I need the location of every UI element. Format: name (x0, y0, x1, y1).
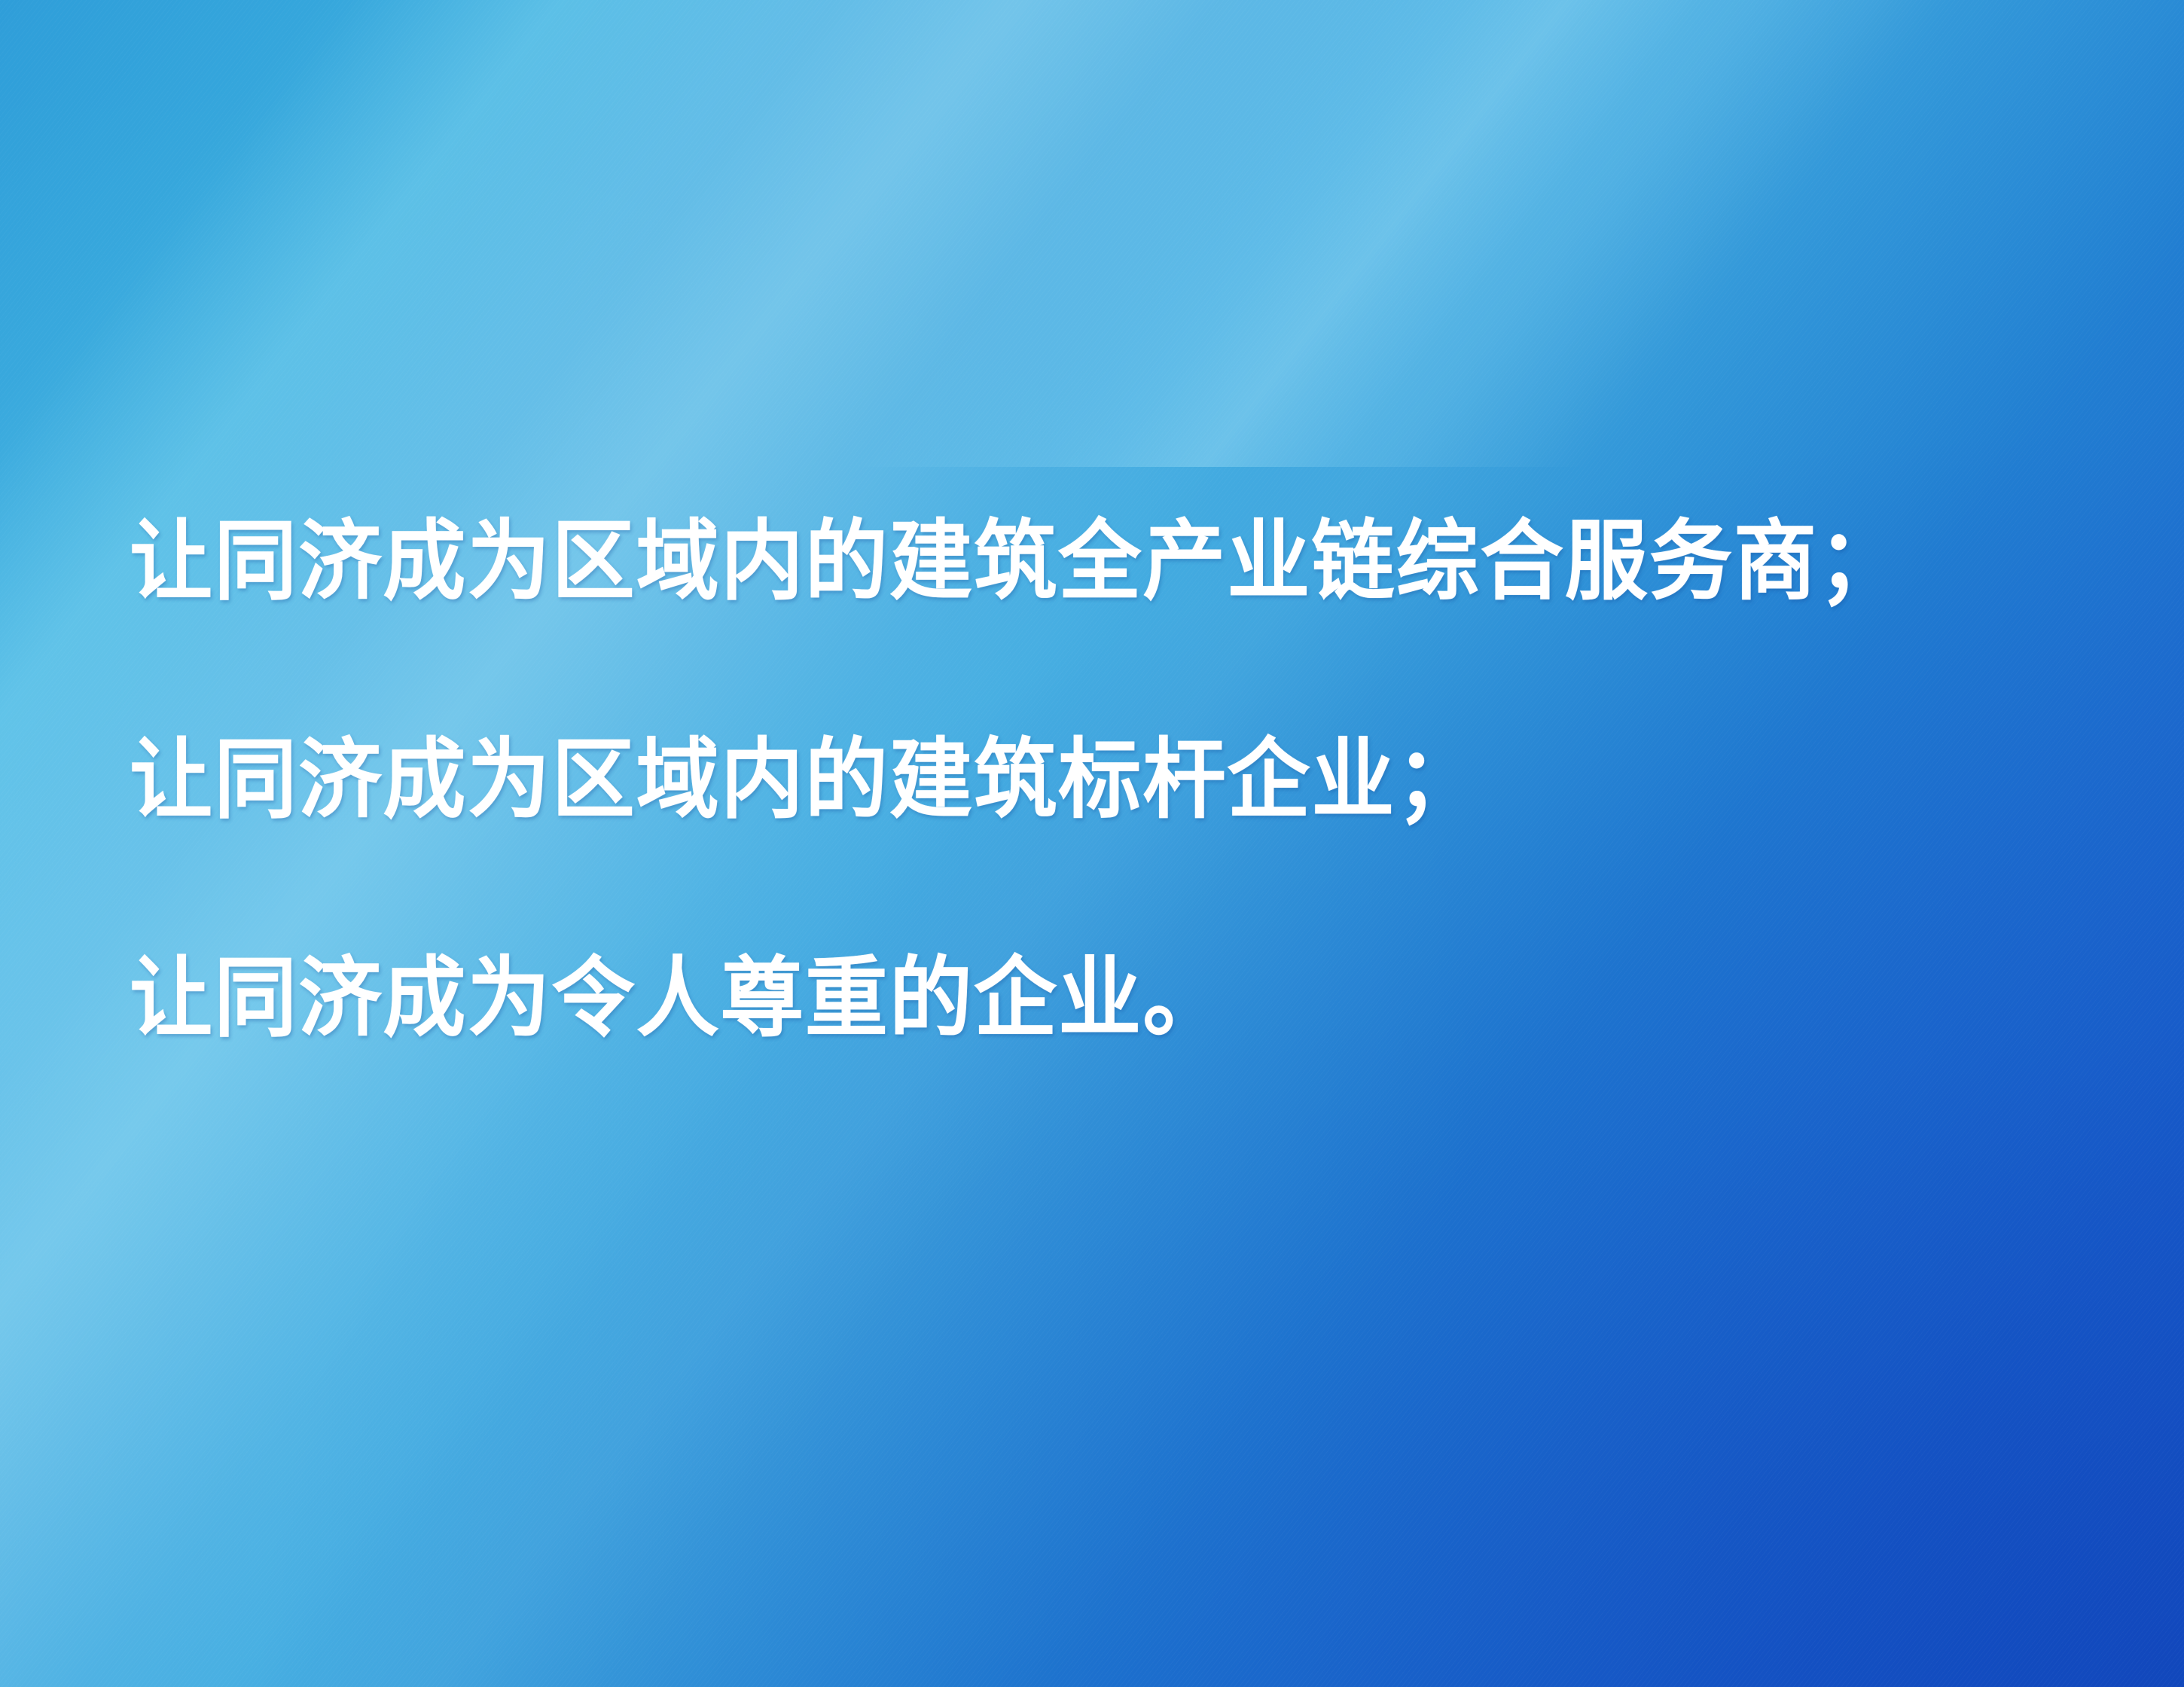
slogan-line-2: 让同济成为区域内的建筑标杆企业； (130, 670, 1990, 889)
slogan-line-1: 让同济成为区域内的建筑全产业链综合服务商； (130, 452, 1990, 670)
slogan-text-block: 让同济成为区域内的建筑全产业链综合服务商； 让同济成为区域内的建筑标杆企业； 让… (130, 452, 2088, 1107)
slogan-line-3: 让同济成为令人尊重的企业。 (130, 889, 1990, 1107)
presentation-slide: 让同济成为区域内的建筑全产业链综合服务商； 让同济成为区域内的建筑标杆企业； 让… (0, 0, 2184, 1687)
background-topright-streak (0, 0, 2184, 467)
